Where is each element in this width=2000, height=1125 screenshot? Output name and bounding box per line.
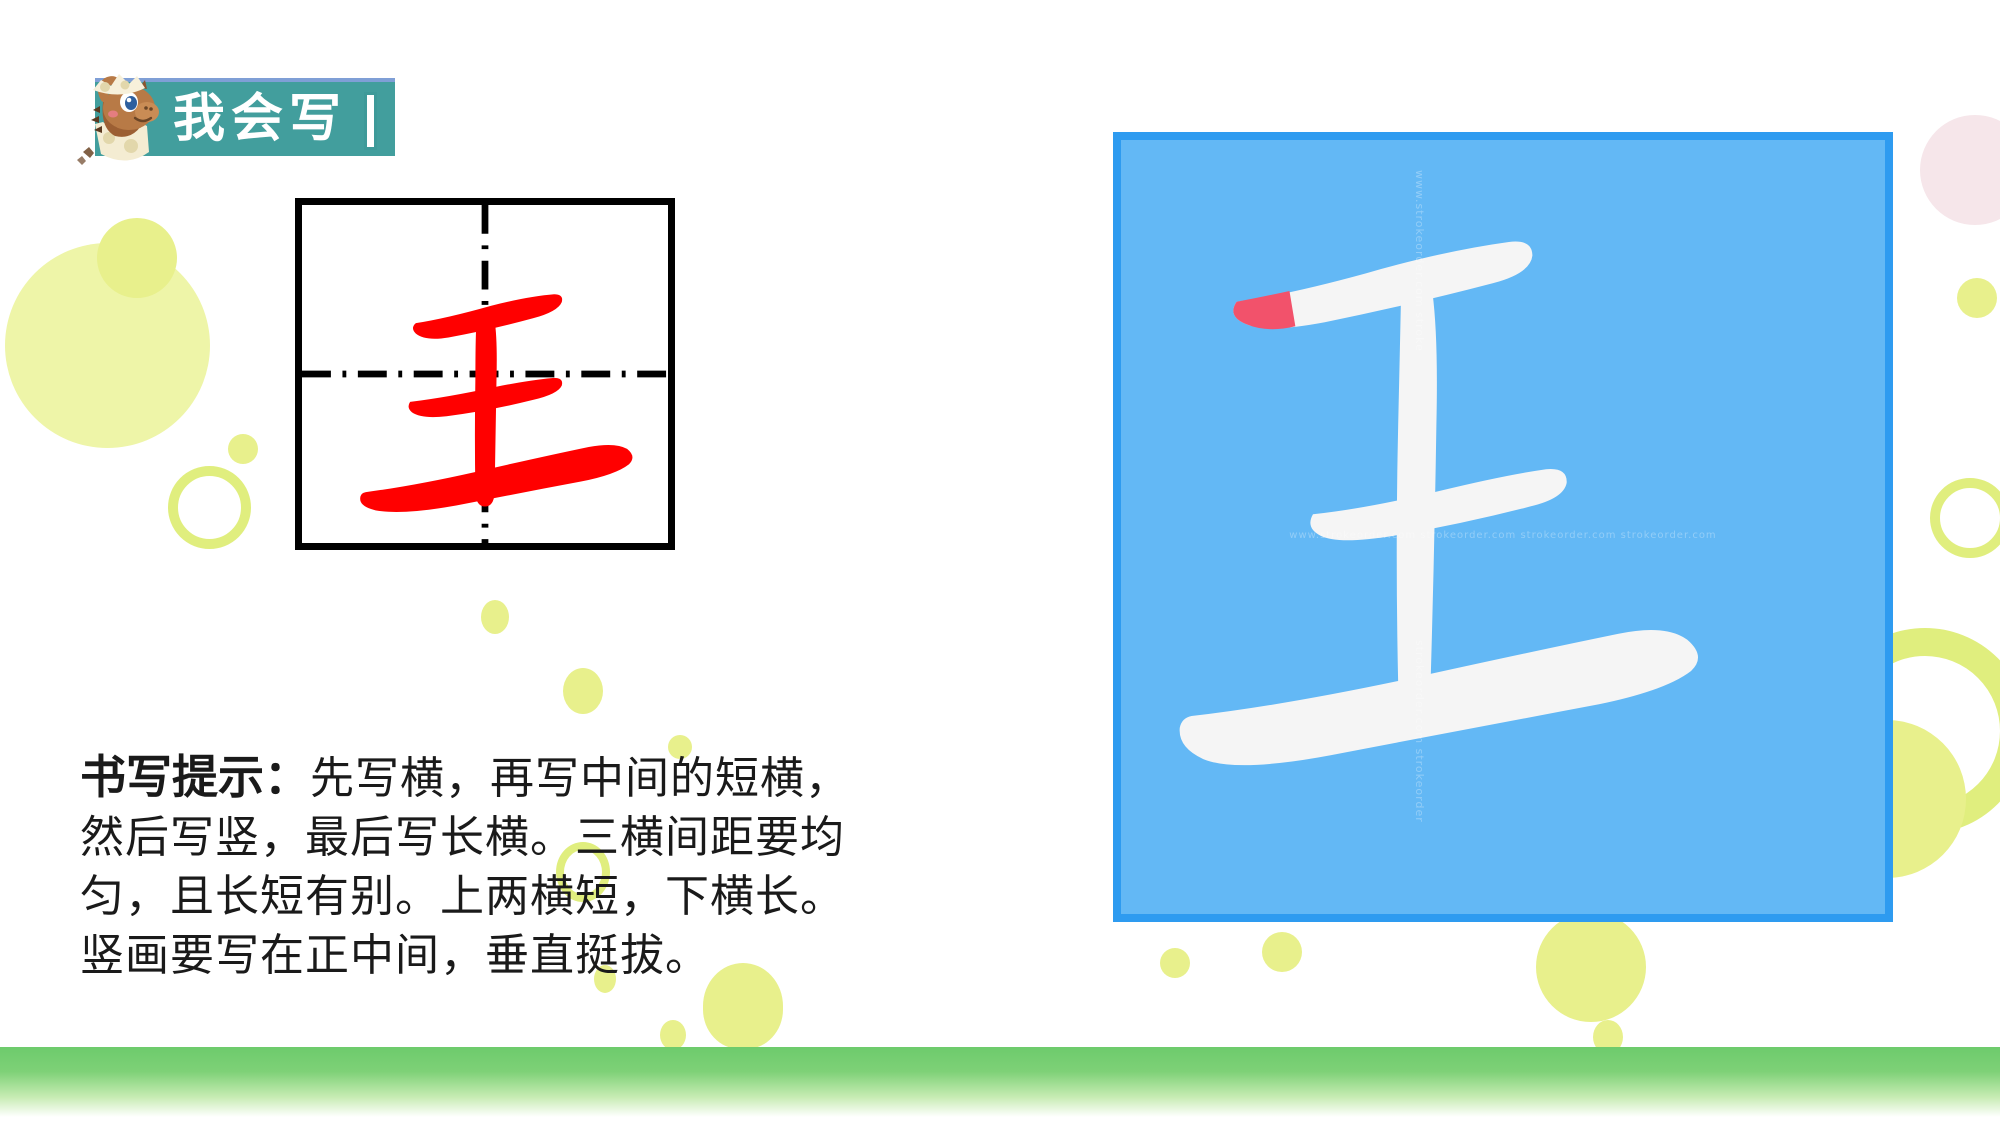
decor-ring-left bbox=[168, 466, 251, 549]
character-王-demo bbox=[1121, 140, 1885, 914]
header: 我会写 bbox=[95, 78, 395, 156]
tips-line-3: 匀，且长短有别。上两横短，下横长。 bbox=[80, 867, 1090, 926]
decor-dot-left-small bbox=[228, 434, 258, 464]
decor-dot-right-top bbox=[1957, 278, 1997, 318]
stroke-demo-panel: www.strokeorder.com strokeorder.com stro… bbox=[1113, 132, 1893, 922]
decor-dot-bottom-1 bbox=[1160, 948, 1190, 978]
banner-accent-bar bbox=[364, 92, 377, 150]
decor-circle-top-right bbox=[1920, 115, 2000, 225]
tips-line-2: 然后写竖，最后写长横。三横间距要均 bbox=[80, 808, 1090, 867]
hatching-dino-mascot-icon bbox=[67, 56, 187, 176]
footer-green-strip bbox=[0, 1047, 2000, 1117]
decor-dot-bottom-left bbox=[660, 1020, 686, 1050]
tianzige-practice-grid bbox=[295, 198, 675, 550]
decor-dot-bottom-2 bbox=[1262, 932, 1302, 972]
decor-circle-large-left bbox=[5, 243, 210, 448]
tips-label: 书写提示： bbox=[80, 750, 310, 804]
character-王-red bbox=[302, 205, 668, 543]
tips-line-1-text: 先写横，再写中间的短横， bbox=[310, 754, 850, 803]
decor-circle-bottom-mid bbox=[1536, 912, 1646, 1022]
decor-dot-text-1 bbox=[481, 600, 509, 634]
decor-ring-right bbox=[1930, 478, 2000, 558]
tips-line-1: 书写提示：先写横，再写中间的短横， bbox=[80, 748, 1090, 808]
tips-line-4: 竖画要写在正中间，垂直挺拔。 bbox=[80, 926, 1090, 985]
decor-circle-medium-left bbox=[97, 218, 177, 298]
decor-dot-text-2 bbox=[563, 668, 603, 714]
writing-tips: 书写提示：先写横，再写中间的短横， 然后写竖，最后写长横。三横间距要均 匀，且长… bbox=[80, 748, 1090, 985]
page-title: 我会写 bbox=[173, 93, 347, 145]
